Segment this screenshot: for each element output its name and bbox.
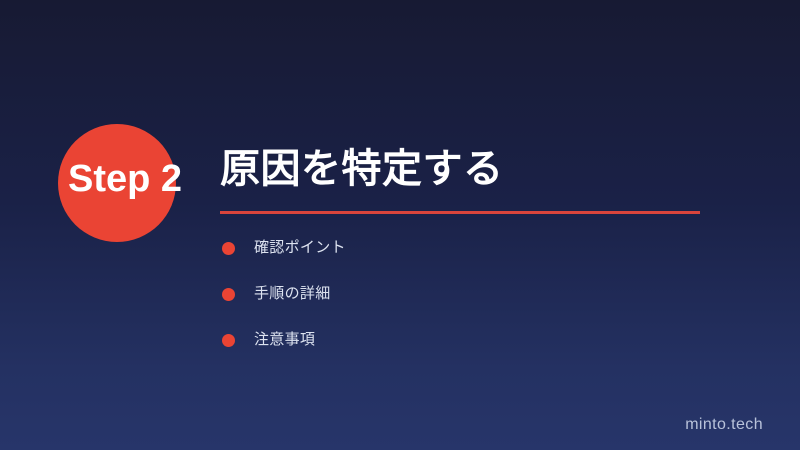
bullet-dot-icon <box>222 334 235 347</box>
bullet-label: 注意事項 <box>254 330 315 350</box>
footer-brand: minto.tech <box>685 416 763 434</box>
list-item: 確認ポイント <box>220 233 720 263</box>
slide-title: 原因を特定する <box>220 145 720 193</box>
presentation-slide: Step 2 原因を特定する 確認ポイント 手順の詳細 注意事項 minto.t… <box>0 0 800 450</box>
title-divider <box>220 211 700 214</box>
slide-content: 原因を特定する 確認ポイント 手順の詳細 注意事項 <box>220 145 720 355</box>
bullet-dot-icon <box>222 288 235 301</box>
bullet-list: 確認ポイント 手順の詳細 注意事項 <box>220 233 720 355</box>
step-badge: Step 2 <box>40 110 210 240</box>
bullet-label: 手順の詳細 <box>254 284 331 304</box>
step-label: Step 2 <box>40 154 210 204</box>
bullet-dot-icon <box>222 242 235 255</box>
list-item: 注意事項 <box>220 325 720 355</box>
bullet-label: 確認ポイント <box>254 238 346 258</box>
list-item: 手順の詳細 <box>220 279 720 309</box>
